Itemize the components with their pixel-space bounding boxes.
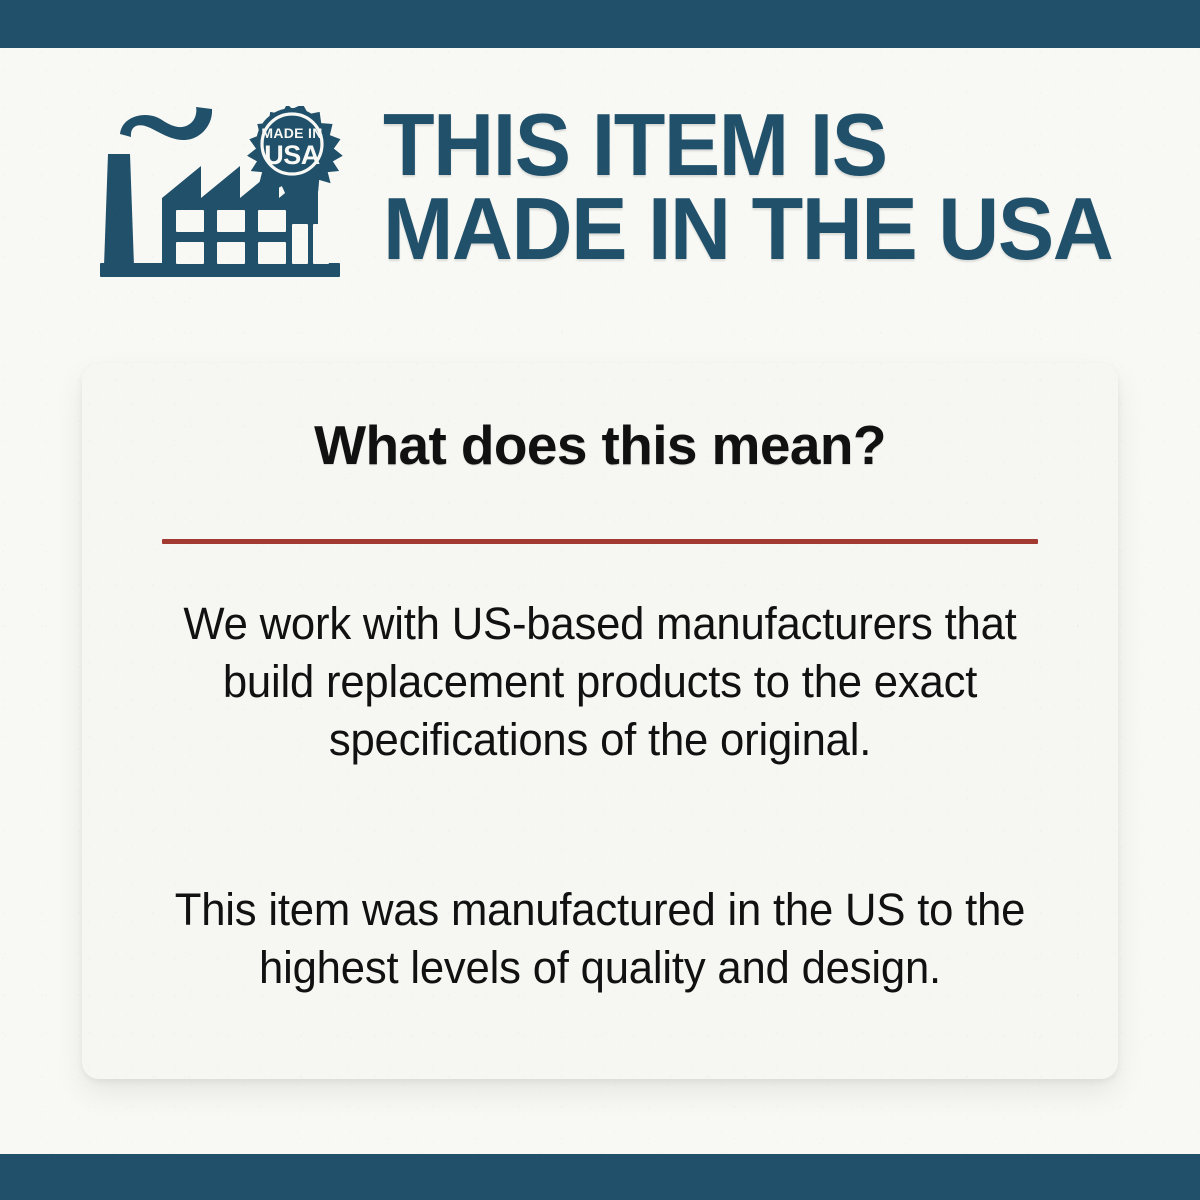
bottom-accent-bar (0, 1154, 1200, 1200)
page-title: THIS ITEM IS MADE IN THE USA (383, 103, 1141, 271)
card-heading: What does this mean? (82, 413, 1118, 477)
card-paragraph-2: This item was manufactured in the US to … (154, 881, 1046, 997)
card-paragraph-1: We work with US-based manufacturers that… (154, 595, 1046, 769)
factory-icon: MADE IN USA (100, 106, 350, 286)
made-in-usa-banner: MADE IN USA THIS ITEM IS MADE IN THE USA… (0, 0, 1200, 1200)
top-accent-bar (0, 0, 1200, 48)
headline-line-2: MADE IN THE USA (383, 187, 1141, 271)
header-section: MADE IN USA THIS ITEM IS MADE IN THE USA (0, 48, 1200, 348)
explanation-card: What does this mean? We work with US-bas… (82, 363, 1118, 1079)
svg-text:USA: USA (264, 140, 320, 170)
svg-text:MADE IN: MADE IN (261, 125, 322, 141)
headline-line-1: THIS ITEM IS (383, 103, 1141, 187)
card-divider (162, 539, 1038, 544)
